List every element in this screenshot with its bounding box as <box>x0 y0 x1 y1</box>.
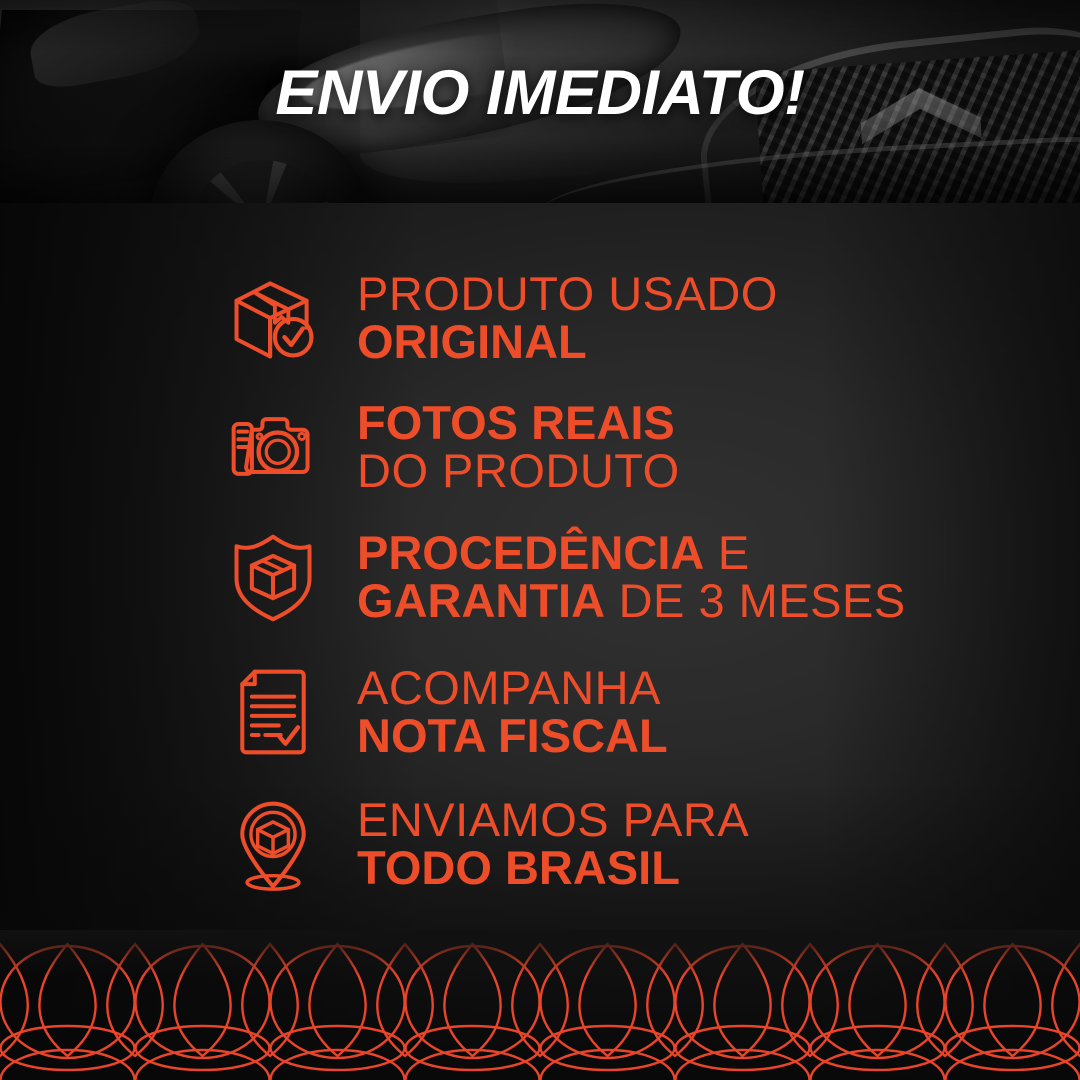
feature-row-procedencia-garantia: PROCEDÊNCIA E GARANTIA DE 3 MESES <box>225 518 906 636</box>
box-check-icon <box>225 270 321 366</box>
feature-line-2: ORIGINAL <box>357 318 778 366</box>
feature-line-2: DO PRODUTO <box>357 447 680 495</box>
feature-line-1: ACOMPANHA <box>357 664 668 712</box>
feature-text: ACOMPANHA NOTA FISCAL <box>357 664 668 760</box>
feature-line-2: GARANTIA DE 3 MESES <box>357 577 906 625</box>
lattice-tiles <box>0 944 1080 1080</box>
feature-row-fotos-reais: FOTOS REAIS DO PRODUTO <box>225 388 680 506</box>
feature-text: PROCEDÊNCIA E GARANTIA DE 3 MESES <box>357 529 906 625</box>
feature-line-1-suffix: E <box>704 526 749 579</box>
feature-line-1: PRODUTO USADO <box>357 270 778 318</box>
hero-banner: ENVIO IMEDIATO! <box>0 0 1080 203</box>
feature-row-produto-usado-original: PRODUTO USADO ORIGINAL <box>225 259 778 377</box>
geometric-lattice-pattern <box>0 930 1080 1080</box>
invoice-document-icon <box>225 664 321 760</box>
feature-row-nota-fiscal: ACOMPANHA NOTA FISCAL <box>225 653 668 771</box>
feature-text: PRODUTO USADO ORIGINAL <box>357 270 778 366</box>
lattice-svg <box>0 930 1080 1080</box>
feature-line-2: NOTA FISCAL <box>357 712 668 760</box>
hero-title: ENVIO IMEDIATO! <box>0 62 1080 125</box>
feature-text: ENVIAMOS PARA TODO BRASIL <box>357 796 749 892</box>
feature-line-1: FOTOS REAIS <box>357 399 680 447</box>
promo-infographic: ENVIO IMEDIATO! PRODUTO USADO ORIGINAL <box>0 0 1080 1080</box>
feature-line-1: ENVIAMOS PARA <box>357 796 749 844</box>
map-pin-box-icon <box>225 796 321 892</box>
feature-line-1-strong: PROCEDÊNCIA <box>357 526 704 579</box>
camera-icon <box>225 399 321 495</box>
feature-row-todo-brasil: ENVIAMOS PARA TODO BRASIL <box>225 785 749 903</box>
feature-line-1: PROCEDÊNCIA E <box>357 529 906 577</box>
feature-line-2-suffix: DE 3 MESES <box>605 574 906 627</box>
feature-line-2: TODO BRASIL <box>357 844 749 892</box>
feature-text: FOTOS REAIS DO PRODUTO <box>357 399 680 495</box>
shield-box-icon <box>225 529 321 625</box>
feature-line-2-strong: GARANTIA <box>357 574 605 627</box>
